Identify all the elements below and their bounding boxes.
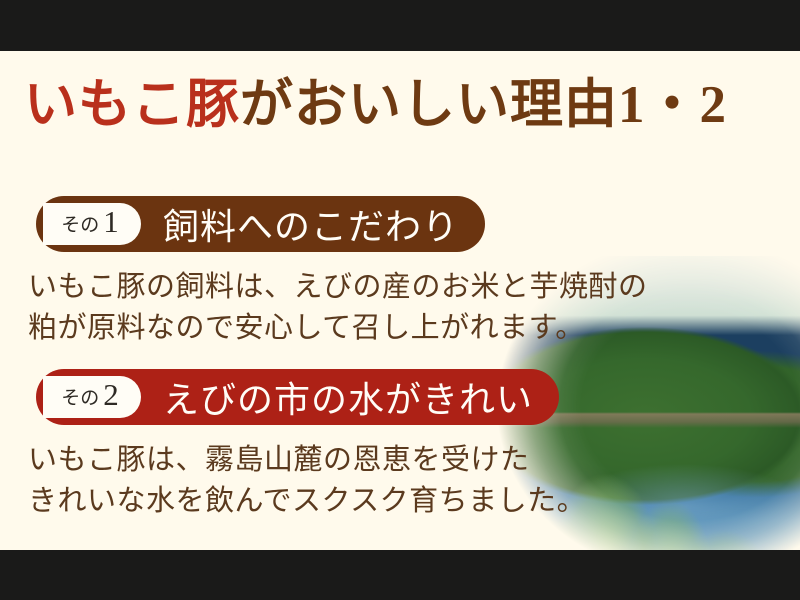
letterbox-bar-bottom (0, 550, 800, 600)
reason-2-tag-prefix: その (61, 383, 99, 410)
page-title-highlight: いもこ豚 (24, 76, 240, 134)
reason-2-body-line-2: きれいな水を飲んでスクスク育ちました。 (28, 481, 800, 522)
reason-1-body-line-1: いもこ豚の飼料は、えびの産のお米と芋焼酎の (28, 267, 800, 308)
reason-1-body: いもこ豚の飼料は、えびの産のお米と芋焼酎の 粕が原料なので安心して召し上がれます… (28, 267, 800, 349)
reason-block-2: その 2 えびの市の水がきれい いもこ豚は、霧島山麓の恩恵を受けた きれいな水を… (0, 369, 800, 522)
reason-2-body-line-1: いもこ豚は、霧島山麓の恩恵を受けた (28, 440, 800, 481)
screenshot-root: いもこ豚がおいしい理由1・2 その 1 飼料へのこだわり いもこ豚の飼料は、えび… (0, 0, 800, 600)
reason-2-body: いもこ豚は、霧島山麓の恩恵を受けた きれいな水を飲んでスクスク育ちました。 (28, 440, 800, 522)
page-title: いもこ豚がおいしい理由1・2 (24, 79, 784, 132)
reason-2-heading: えびの市の水がきれい (163, 371, 533, 423)
content-canvas: いもこ豚がおいしい理由1・2 その 1 飼料へのこだわり いもこ豚の飼料は、えび… (0, 51, 800, 550)
reason-1-badge: その 1 飼料へのこだわり (36, 196, 485, 252)
reason-block-1: その 1 飼料へのこだわり いもこ豚の飼料は、えびの産のお米と芋焼酎の 粕が原料… (0, 196, 800, 349)
reason-2-tag: その 2 (43, 376, 141, 418)
reason-2-badge: その 2 えびの市の水がきれい (36, 369, 559, 425)
reason-1-heading: 飼料へのこだわり (163, 198, 459, 250)
page-title-rest: がおいしい理由1・2 (240, 76, 727, 134)
reason-1-tag-prefix: その (61, 210, 99, 237)
reason-1-tag-number: 1 (103, 204, 119, 240)
letterbox-bar-top (0, 0, 800, 51)
reason-1-tag: その 1 (43, 203, 141, 245)
reason-2-tag-number: 2 (103, 377, 119, 413)
reason-1-body-line-2: 粕が原料なので安心して召し上がれます。 (28, 308, 800, 349)
